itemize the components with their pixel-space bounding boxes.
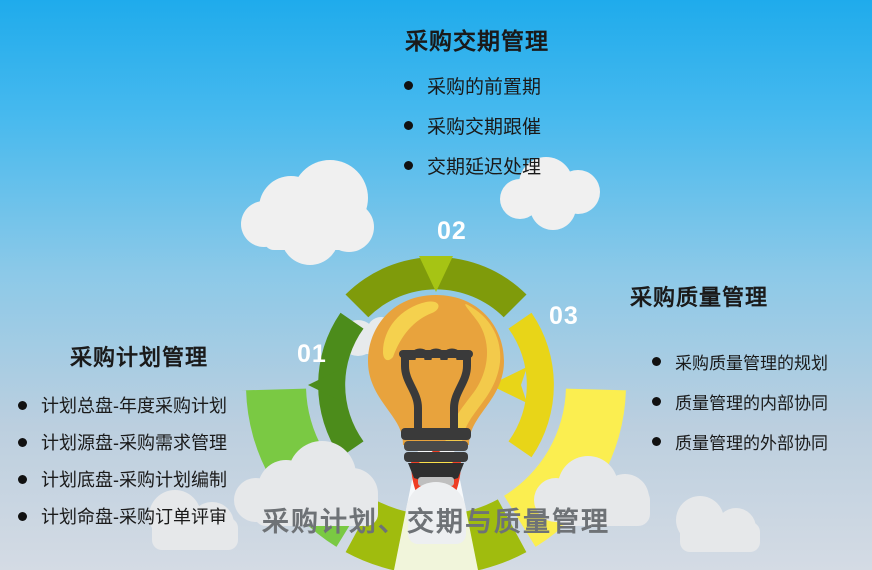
light-bulb	[368, 295, 504, 486]
list-item: 质量管理的内部协同	[652, 389, 872, 414]
list-item: 采购的前置期	[404, 72, 660, 99]
list-item: 采购交期跟催	[404, 112, 660, 139]
list-item: 质量管理的外部协同	[652, 429, 872, 454]
section-right-bullet-list: 采购质量管理的规划 质量管理的内部协同 质量管理的外部协同	[652, 349, 872, 454]
list-item-label: 计划总盘-年度采购计划	[41, 392, 227, 418]
bullet-dot-icon	[404, 161, 413, 170]
section-right-quality: 采购质量管理 采购质量管理的规划 质量管理的内部协同 质量管理的外部协同	[630, 280, 872, 469]
list-item: 采购质量管理的规划	[652, 349, 872, 374]
list-item: 交期延迟处理	[404, 152, 660, 179]
list-item-label: 计划底盘-采购计划编制	[41, 466, 227, 492]
bullet-dot-icon	[652, 437, 661, 446]
bullet-dot-icon	[652, 397, 661, 406]
list-item-label: 采购的前置期	[427, 72, 541, 99]
list-item: 计划源盘-采购需求管理	[18, 429, 278, 455]
arc-inner-03	[490, 313, 554, 458]
section-top-bullet-list: 采购的前置期 采购交期跟催 交期延迟处理	[404, 72, 660, 179]
section-right-title: 采购质量管理	[630, 280, 872, 312]
bullet-dot-icon	[404, 81, 413, 90]
section-top-delivery: 采购交期管理 采购的前置期 采购交期跟催 交期延迟处理	[330, 22, 660, 192]
list-item-label: 采购质量管理的规划	[675, 349, 828, 374]
list-item-label: 交期延迟处理	[427, 152, 541, 179]
section-top-title: 采购交期管理	[342, 22, 612, 56]
list-item-label: 采购交期跟催	[427, 112, 541, 139]
list-item: 计划底盘-采购计划编制	[18, 466, 278, 492]
list-item-label: 计划源盘-采购需求管理	[41, 429, 227, 455]
arc-number-01: 01	[297, 340, 327, 369]
bullet-dot-icon	[652, 357, 661, 366]
arc-number-02: 02	[437, 217, 467, 246]
bullet-dot-icon	[18, 438, 27, 447]
section-left-title: 采购计划管理	[8, 340, 270, 372]
list-item-label: 质量管理的外部协同	[675, 429, 828, 454]
arc-inner-01	[308, 313, 364, 458]
list-item: 计划总盘-年度采购计划	[18, 392, 278, 418]
bullet-dot-icon	[404, 121, 413, 130]
arc-number-03: 03	[549, 302, 579, 331]
bullet-dot-icon	[18, 475, 27, 484]
list-item-label: 质量管理的内部协同	[675, 389, 828, 414]
page-caption: 采购计划、交期与质量管理	[0, 500, 872, 539]
bullet-dot-icon	[18, 401, 27, 410]
infographic-canvas: 01 02 03 采购交期管理 采购的前置期 采购交期跟催 交期延迟处理 采购计…	[0, 0, 872, 570]
